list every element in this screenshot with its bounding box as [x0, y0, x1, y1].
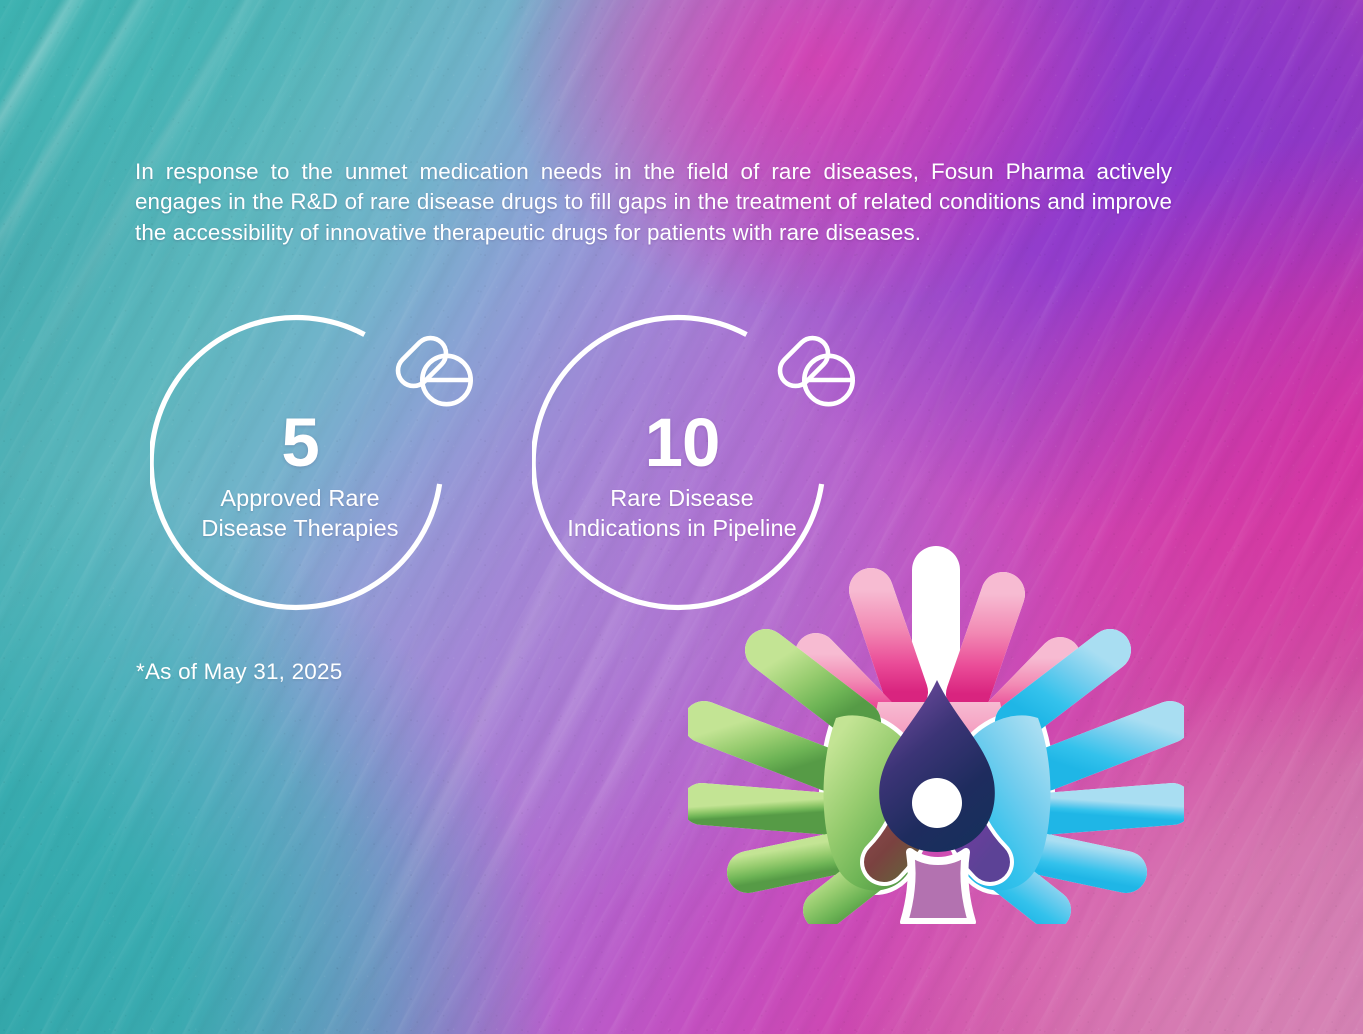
- stat-text-pipeline: 10 Rare Disease Indications in Pipeline: [532, 408, 832, 543]
- footnote-as-of-date: *As of May 31, 2025: [136, 657, 342, 687]
- logo-wrist: [904, 852, 972, 922]
- rare-disease-hands-logo: [688, 532, 1184, 924]
- stat-label-pipeline-line1: Rare Disease: [532, 483, 832, 513]
- page-content: In response to the unmet medication need…: [0, 0, 1363, 1034]
- stat-label-approved-line2: Disease Therapies: [150, 513, 450, 543]
- stat-number-pipeline: 10: [532, 408, 832, 478]
- pills-icon: [386, 330, 478, 410]
- stat-card-approved-rare-disease-therapies: 5 Approved Rare Disease Therapies: [150, 312, 450, 612]
- stat-text-approved: 5 Approved Rare Disease Therapies: [150, 408, 450, 543]
- pills-icon: [768, 330, 860, 410]
- stat-label-approved-line1: Approved Rare: [150, 483, 450, 513]
- intro-paragraph: In response to the unmet medication need…: [135, 157, 1172, 248]
- logo-center-dot: [912, 778, 962, 828]
- stat-number-approved: 5: [150, 408, 450, 478]
